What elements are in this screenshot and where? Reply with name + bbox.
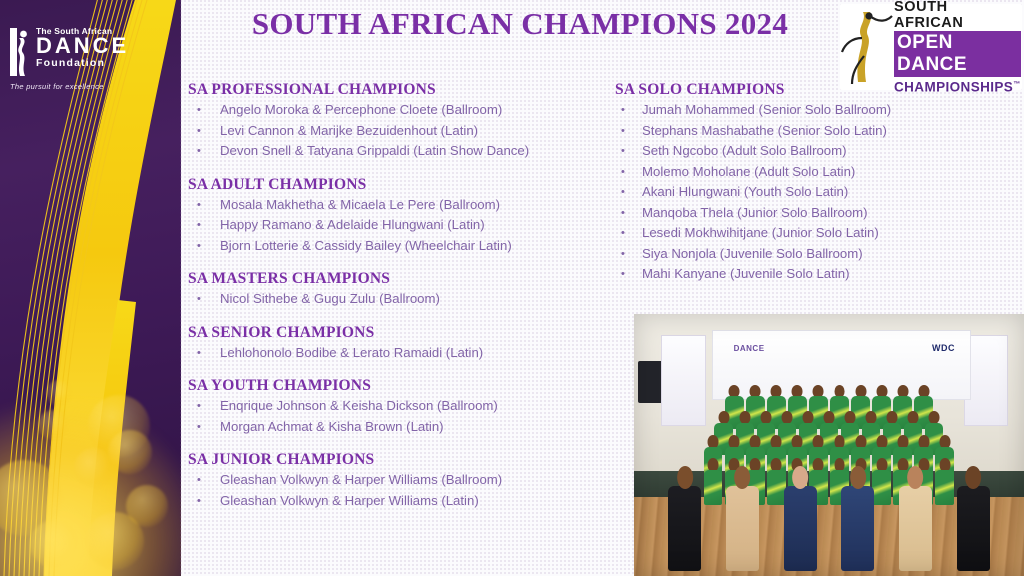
open-championships-logo: SOUTH AFRICAN OPEN DANCE CHAMPIONSHIPS™ — [840, 4, 1022, 90]
section-heading: SA ADULT CHAMPIONS — [188, 175, 588, 194]
list-item: Lehlohonolo Bodibe & Lerato Ramaidi (Lat… — [188, 343, 588, 364]
photo-vignette — [634, 314, 1024, 576]
section-heading: SA MASTERS CHAMPIONS — [188, 269, 588, 288]
list-item: Enqrique Johnson & Keisha Dickson (Ballr… — [188, 396, 588, 417]
list-item: Manqoba Thela (Junior Solo Ballroom) — [615, 203, 1015, 224]
logo-line-3: Foundation — [36, 57, 129, 69]
logo-tagline: The pursuit for excellence — [10, 82, 120, 91]
section-junior: SA JUNIOR CHAMPIONS Gleashan Volkwyn & H… — [188, 450, 588, 511]
champion-list: Gleashan Volkwyn & Harper Williams (Ball… — [188, 470, 588, 511]
section-heading: SA SOLO CHAMPIONS — [615, 80, 1015, 99]
dancer-figure-icon — [10, 26, 32, 78]
right-content-column: SA SOLO CHAMPIONS Jumah Mohammed (Senior… — [615, 80, 1015, 285]
list-item: Lesedi Mokhwihitjane (Junior Solo Latin) — [615, 223, 1015, 244]
page-title: SOUTH AFRICAN CHAMPIONS 2024 — [200, 2, 840, 46]
list-item: Levi Cannon & Marijke Bezuidenhout (Lati… — [188, 121, 588, 142]
list-item: Mahi Kanyane (Juvenile Solo Latin) — [615, 264, 1015, 285]
list-item: Gleashan Volkwyn & Harper Williams (Lati… — [188, 491, 588, 512]
list-item: Bjorn Lotterie & Cassidy Bailey (Wheelch… — [188, 236, 588, 257]
list-item: Devon Snell & Tatyana Grippaldi (Latin S… — [188, 141, 588, 162]
list-item: Morgan Achmat & Kisha Brown (Latin) — [188, 417, 588, 438]
section-masters: SA MASTERS CHAMPIONS Nicol Sithebe & Gug… — [188, 269, 588, 310]
dance-foundation-logo: The South African DANCE Foundation The p… — [10, 26, 120, 104]
logo-line-2: DANCE — [36, 35, 129, 57]
section-professional: SA PROFESSIONAL CHAMPIONS Angelo Moroka … — [188, 80, 588, 162]
list-item: Angelo Moroka & Percephone Cloete (Ballr… — [188, 100, 588, 121]
champion-list: Nicol Sithebe & Gugu Zulu (Ballroom) — [188, 289, 588, 310]
section-youth: SA YOUTH CHAMPIONS Enqrique Johnson & Ke… — [188, 376, 588, 437]
decorative-side-panel: The South African DANCE Foundation The p… — [0, 0, 181, 576]
champion-list: Lehlohonolo Bodibe & Lerato Ramaidi (Lat… — [188, 343, 588, 364]
section-solo: SA SOLO CHAMPIONS Jumah Mohammed (Senior… — [615, 80, 1015, 285]
section-heading: SA SENIOR CHAMPIONS — [188, 323, 588, 342]
list-item: Seth Ngcobo (Adult Solo Ballroom) — [615, 141, 1015, 162]
section-heading: SA YOUTH CHAMPIONS — [188, 376, 588, 395]
list-item: Stephans Mashabathe (Senior Solo Latin) — [615, 121, 1015, 142]
left-content-column: SA PROFESSIONAL CHAMPIONS Angelo Moroka … — [188, 80, 588, 511]
section-senior: SA SENIOR CHAMPIONS Lehlohonolo Bodibe &… — [188, 323, 588, 364]
section-adult: SA ADULT CHAMPIONS Mosala Makhetha & Mic… — [188, 175, 588, 257]
section-heading: SA PROFESSIONAL CHAMPIONS — [188, 80, 588, 99]
list-item: Gleashan Volkwyn & Harper Williams (Ball… — [188, 470, 588, 491]
list-item: Siya Nonjola (Juvenile Solo Ballroom) — [615, 244, 1015, 265]
section-heading: SA JUNIOR CHAMPIONS — [188, 450, 588, 469]
team-photo: DANCE WDC — [634, 314, 1024, 576]
slide-canvas: The South African DANCE Foundation The p… — [0, 0, 1024, 576]
list-item: Nicol Sithebe & Gugu Zulu (Ballroom) — [188, 289, 588, 310]
list-item: Happy Ramano & Adelaide Hlungwani (Latin… — [188, 215, 588, 236]
champion-list: Jumah Mohammed (Senior Solo Ballroom) St… — [615, 100, 1015, 285]
bokeh-circle — [46, 380, 72, 406]
list-item: Jumah Mohammed (Senior Solo Ballroom) — [615, 100, 1015, 121]
dancer-figure-icon — [840, 8, 894, 86]
gold-glow — [0, 406, 181, 576]
list-item: Mosala Makhetha & Micaela Le Pere (Ballr… — [188, 195, 588, 216]
champion-list: Enqrique Johnson & Keisha Dickson (Ballr… — [188, 396, 588, 437]
open-logo-line-1: SOUTH AFRICAN — [894, 0, 1021, 31]
list-item: Akani Hlungwani (Youth Solo Latin) — [615, 182, 1015, 203]
champion-list: Angelo Moroka & Percephone Cloete (Ballr… — [188, 100, 588, 162]
list-item: Molemo Moholane (Adult Solo Latin) — [615, 162, 1015, 183]
champion-list: Mosala Makhetha & Micaela Le Pere (Ballr… — [188, 195, 588, 257]
open-logo-line-2: OPEN DANCE — [894, 31, 1021, 77]
